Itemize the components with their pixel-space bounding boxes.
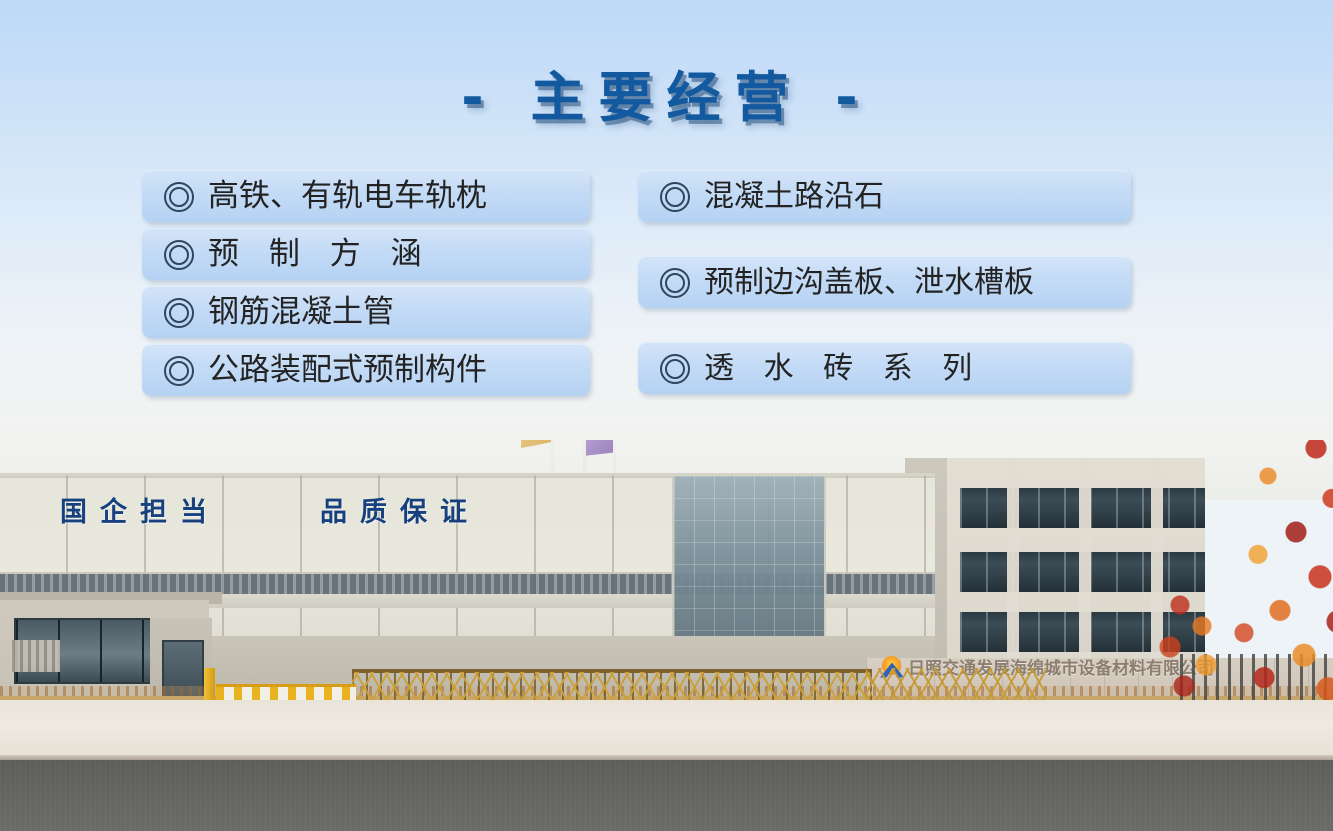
- poster-canvas: - 主要经营 - 高铁、有轨电车轨枕 预 制 方 涵 钢筋混凝土管 公路装配式预…: [0, 0, 1333, 831]
- wall-vent-grille-icon: [12, 640, 60, 672]
- service-label: 公路装配式预制构件: [208, 355, 487, 386]
- service-label: 透 水 砖 系 列: [704, 354, 982, 384]
- sidewalk: [0, 700, 1333, 758]
- service-item-left-4[interactable]: 公路装配式预制构件: [142, 344, 590, 396]
- service-label: 高铁、有轨电车轨枕: [208, 181, 487, 212]
- services-columns: 高铁、有轨电车轨枕 预 制 方 涵 钢筋混凝土管 公路装配式预制构件 混凝土路沿…: [0, 0, 1333, 470]
- autumn-tree-lower-branch: [1140, 560, 1240, 710]
- service-item-left-3[interactable]: 钢筋混凝土管: [142, 286, 590, 338]
- factory-sign-right: 品质保证: [320, 490, 480, 529]
- service-label: 预 制 方 涵: [208, 239, 432, 270]
- ring-bullet-icon: [164, 182, 194, 212]
- ring-bullet-icon: [660, 182, 690, 212]
- road: [0, 760, 1333, 831]
- service-item-right-3[interactable]: 透 水 砖 系 列: [638, 342, 1131, 394]
- service-label: 混凝土路沿石: [704, 182, 884, 212]
- factory-sign-left: 国企担当: [60, 490, 220, 529]
- service-item-right-2[interactable]: 预制边沟盖板、泄水槽板: [638, 256, 1131, 308]
- service-item-right-1[interactable]: 混凝土路沿石: [638, 170, 1131, 222]
- factory-photo: 国企担当 品质保证 日照交通发展海绵城市设备材料有限公司: [0, 440, 1333, 831]
- service-item-left-2[interactable]: 预 制 方 涵: [142, 228, 590, 280]
- ring-bullet-icon: [164, 298, 194, 328]
- ring-bullet-icon: [164, 240, 194, 270]
- ring-bullet-icon: [660, 268, 690, 298]
- ring-bullet-icon: [164, 356, 194, 386]
- service-label: 预制边沟盖板、泄水槽板: [704, 268, 1034, 298]
- service-label: 钢筋混凝土管: [208, 297, 394, 328]
- ring-bullet-icon: [660, 354, 690, 384]
- service-item-left-1[interactable]: 高铁、有轨电车轨枕: [142, 170, 590, 222]
